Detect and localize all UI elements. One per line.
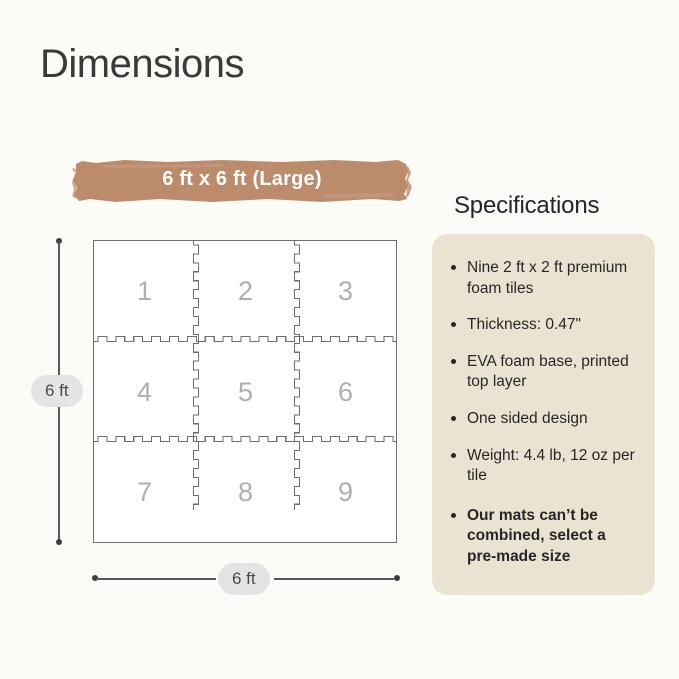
specification-item-label: Our mats can’t be combined, select a pre… [467, 507, 606, 565]
width-dimension-line-left [96, 578, 216, 580]
bullet-icon [451, 513, 456, 518]
specification-item: EVA foam base, printed top layer [450, 352, 637, 393]
tile-cell-9: 9 [296, 443, 395, 542]
size-banner: 6 ft x 6 ft (Large) [72, 152, 412, 208]
tile-cell-3: 3 [296, 241, 395, 342]
page-title: Dimensions [40, 42, 244, 86]
tile-cell-6: 6 [296, 342, 395, 443]
specification-item: Thickness: 0.47" [450, 315, 637, 336]
product-dimensions-page: Dimensions 6 ft x 6 ft (Large) 6 ft 6 ft [0, 0, 679, 679]
height-dimension-line-upper [58, 241, 60, 375]
bullet-icon [451, 453, 456, 458]
specification-item: Nine 2 ft x 2 ft premium foam tiles [450, 258, 637, 299]
specification-item-label: Weight: 4.4 lb, 12 oz per tile [467, 447, 635, 485]
tile-cell-5: 5 [195, 342, 296, 443]
width-dimension-line-right [274, 578, 394, 580]
bullet-icon [451, 416, 456, 421]
specification-item-label: One sided design [467, 410, 588, 427]
bullet-icon [451, 265, 456, 270]
height-dimension-line-lower [58, 407, 60, 541]
width-dimension-dot-right [394, 575, 400, 581]
size-banner-label: 6 ft x 6 ft (Large) [72, 152, 412, 208]
specification-item: One sided design [450, 409, 637, 430]
specification-item-label: EVA foam base, printed top layer [467, 353, 629, 391]
bullet-icon [451, 322, 456, 327]
height-dimension-label: 6 ft [31, 375, 83, 407]
bullet-icon [451, 359, 456, 364]
specification-item: Our mats can’t be combined, select a pre… [450, 506, 637, 568]
specification-item: Weight: 4.4 lb, 12 oz per tile [450, 446, 637, 487]
specification-item-label: Nine 2 ft x 2 ft premium foam tiles [467, 259, 627, 297]
specifications-heading: Specifications [454, 192, 599, 220]
tile-cell-1: 1 [94, 241, 195, 342]
tile-cell-4: 4 [94, 342, 195, 443]
specifications-card: Nine 2 ft x 2 ft premium foam tilesThick… [432, 234, 655, 595]
specifications-list: Nine 2 ft x 2 ft premium foam tilesThick… [450, 258, 637, 568]
height-dimension-dot-bottom [56, 539, 62, 545]
tile-cell-2: 2 [195, 241, 296, 342]
tile-cell-8: 8 [195, 443, 296, 542]
width-dimension-label: 6 ft [218, 563, 270, 595]
tile-cell-7: 7 [94, 443, 195, 542]
specification-item-label: Thickness: 0.47" [467, 316, 581, 333]
tile-grid-diagram: 1 2 3 4 5 6 7 8 9 [93, 240, 397, 543]
